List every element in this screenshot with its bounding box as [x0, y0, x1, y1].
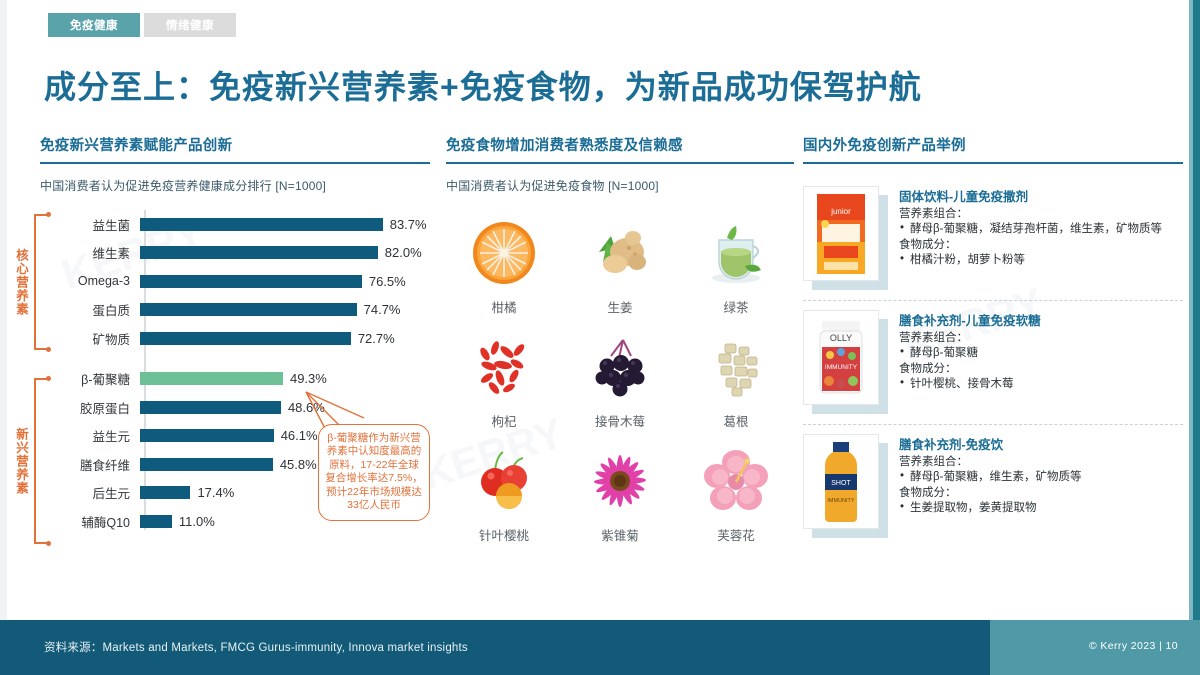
footer-source: 资料来源：Markets and Markets, FMCG Gurus-imm…: [44, 639, 468, 655]
product-food-bullet: 针叶樱桃、接骨木莓: [899, 377, 1183, 392]
olly-gummy-jar-icon: OLLY IMMUNITY: [810, 317, 872, 399]
goji-berry-icon: [467, 330, 541, 404]
food-label: 葛根: [723, 411, 748, 430]
food-item: 枸杞: [446, 330, 562, 430]
acerola-cherry-icon: [467, 444, 541, 518]
bar-label: 益生元: [40, 426, 140, 445]
bar-label: β-葡聚糖: [40, 369, 140, 388]
bar-value: 45.8%: [280, 457, 317, 472]
food-item: 接骨木莓: [562, 330, 678, 430]
section-nutrients-rule: [40, 162, 430, 164]
footer-copyright: © Kerry 2023 | 10: [1089, 640, 1178, 652]
bar-value: 83.7%: [390, 217, 427, 232]
section-foods-rule: [446, 162, 794, 164]
section-foods: 免疫食物增加消费者熟悉度及信赖感 中国消费者认为促进免疫食物 [N=1000]: [446, 134, 794, 544]
bar-fill: [140, 458, 273, 471]
orange-slice-icon: [467, 216, 541, 290]
product-title: 膳食补充剂-儿童免疫软糖: [899, 310, 1183, 329]
tab-emotional-health-label: 情绪健康: [166, 17, 214, 33]
left-accent-bar: [0, 0, 7, 620]
food-label: 柑橘: [491, 297, 516, 316]
food-label: 芙蓉花: [717, 525, 755, 544]
bar-label: 维生素: [40, 243, 140, 262]
footer-bar: 资料来源：Markets and Markets, FMCG Gurus-imm…: [0, 620, 1200, 675]
bar-value: 74.7%: [364, 302, 401, 317]
bar-fill: [140, 332, 351, 345]
product-food-label: 食物成分：: [899, 362, 1183, 377]
bar-fill: [140, 246, 378, 259]
bar-fill: [140, 218, 383, 231]
green-tea-cup-icon: [699, 216, 773, 290]
bar-label: 后生元: [40, 483, 140, 502]
bar-row: 矿物质 72.7%: [40, 324, 430, 353]
product-card: OLLY IMMUNITY 膳食补充剂-儿童免疫软糖 营养素组合： 酵母β-葡: [803, 301, 1183, 425]
svg-text:junior: junior: [830, 207, 851, 216]
product-nutrient-label: 营养素组合：: [899, 207, 1183, 222]
bracket-emerging-nutrients: 新兴营养素: [10, 378, 44, 544]
section-products: 国内外免疫创新产品举例 junior: [803, 134, 1183, 548]
section-foods-subtitle: 中国消费者认为促进免疫食物 [N=1000]: [446, 177, 794, 194]
right-accent-bar: [1193, 0, 1200, 620]
food-item: 绿茶: [678, 216, 794, 316]
bar-value: 17.4%: [197, 485, 234, 500]
section-foods-heading: 免疫食物增加消费者熟悉度及信赖感: [446, 134, 794, 162]
bar-fill: [140, 303, 357, 316]
section-products-heading: 国内外免疫创新产品举例: [803, 134, 1183, 162]
product-nutrient-bullet: 酵母β-葡聚糖，凝结芽孢杆菌，维生素，矿物质等: [899, 222, 1183, 237]
bracket-core-label: 核心营养素: [12, 248, 31, 316]
product-food-label: 食物成分：: [899, 486, 1183, 501]
bar-value: 82.0%: [385, 245, 422, 260]
product-title: 固体饮料-儿童免疫撒剂: [899, 186, 1183, 205]
svg-text:IMMUNITY: IMMUNITY: [827, 498, 855, 504]
bar-fill: [140, 401, 281, 414]
food-item: 生姜: [562, 216, 678, 316]
kids-sachet-box-icon: junior: [811, 192, 871, 276]
bar-fill: [140, 429, 274, 442]
bar-row: 维生素 82.0%: [40, 239, 430, 268]
food-item: 针叶樱桃: [446, 444, 562, 544]
food-grid: 柑橘 生姜: [446, 216, 794, 544]
bar-label: 益生菌: [40, 215, 140, 234]
section-nutrients-heading: 免疫新兴营养素赋能产品创新: [40, 134, 430, 162]
food-item: 紫锥菊: [562, 444, 678, 544]
food-label: 绿茶: [723, 297, 748, 316]
food-label: 紫锥菊: [601, 525, 639, 544]
product-title: 膳食补充剂-免疫饮: [899, 434, 1183, 453]
food-label: 枸杞: [491, 411, 516, 430]
product-nutrient-label: 营养素组合：: [899, 455, 1183, 470]
svg-text:IMMUNITY: IMMUNITY: [825, 364, 858, 371]
product-image: SHOT IMMUNITY: [803, 434, 889, 538]
product-card: SHOT IMMUNITY 膳食补充剂-免疫饮 营养素组合： 酵母β-葡聚糖，维…: [803, 425, 1183, 548]
food-label: 生姜: [607, 297, 632, 316]
bar-value: 11.0%: [179, 514, 215, 529]
product-card: junior 固体饮料-儿童免疫撒剂 营养素组合： 酵母β-葡聚糖，凝结芽孢杆菌…: [803, 177, 1183, 301]
section-nutrients-subtitle: 中国消费者认为促进免疫营养健康成分排行 [N=1000]: [40, 177, 430, 194]
kudzu-root-icon: [699, 330, 773, 404]
bar-label: 膳食纤维: [40, 455, 140, 474]
bracket-emerging-label: 新兴营养素: [12, 427, 31, 495]
tab-emotional-health[interactable]: 情绪健康: [144, 13, 236, 37]
bar-fill: [140, 515, 172, 528]
tab-bar: 免疫健康 情绪健康: [48, 13, 236, 37]
bar-row: Omega-3 76.5%: [40, 267, 430, 296]
ginger-root-icon: [583, 216, 657, 290]
echinacea-flower-icon: [583, 444, 657, 518]
tab-immune-health[interactable]: 免疫健康: [48, 13, 140, 37]
product-nutrient-label: 营养素组合：: [899, 331, 1183, 346]
immunity-shot-bottle-icon: SHOT IMMUNITY: [815, 440, 867, 524]
bar-value: 76.5%: [369, 274, 406, 289]
product-food-bullet: 生姜提取物，姜黄提取物: [899, 501, 1183, 516]
food-item: 葛根: [678, 330, 794, 430]
svg-text:OLLY: OLLY: [830, 333, 852, 343]
elderberry-icon: [583, 330, 657, 404]
page-title: 成分至上：免疫新兴营养素+免疫食物，为新品成功保驾护航: [44, 62, 922, 108]
food-item: 柑橘: [446, 216, 562, 316]
product-image: OLLY IMMUNITY: [803, 310, 889, 414]
callout-beta-glucan: β-葡聚糖作为新兴营养素中认知度最高的原料，17-22年全球复合增长率达7.5%…: [318, 424, 430, 521]
bracket-core-nutrients: 核心营养素: [10, 214, 44, 350]
bar-label: 胶原蛋白: [40, 398, 140, 417]
bar-value: 49.3%: [290, 371, 327, 386]
bar-label: 蛋白质: [40, 300, 140, 319]
bar-label: Omega-3: [40, 274, 140, 288]
bar-label: 辅酶Q10: [40, 512, 140, 531]
product-image: junior: [803, 186, 889, 290]
bar-row: 益生菌 83.7%: [40, 210, 430, 239]
svg-text:SHOT: SHOT: [831, 480, 851, 487]
section-products-rule: [803, 162, 1183, 164]
slide: KERRY KERRY KERRY 免疫健康 情绪健康 成分至上：免疫新兴营养素…: [0, 0, 1200, 675]
food-label: 针叶樱桃: [479, 525, 529, 544]
tab-immune-health-label: 免疫健康: [70, 17, 118, 33]
product-nutrient-bullet: 酵母β-葡聚糖: [899, 346, 1183, 361]
product-food-bullet: 柑橘汁粉，胡萝卜粉等: [899, 253, 1183, 268]
product-food-label: 食物成分：: [899, 238, 1183, 253]
bar-fill: [140, 275, 362, 288]
hibiscus-flower-icon: [699, 444, 773, 518]
food-item: 芙蓉花: [678, 444, 794, 544]
bar-label: 矿物质: [40, 329, 140, 348]
food-label: 接骨木莓: [595, 411, 645, 430]
bar-fill: [140, 486, 190, 499]
bar-row: 蛋白质 74.7%: [40, 296, 430, 325]
bar-value: 72.7%: [358, 331, 395, 346]
bar-fill-highlight: [140, 372, 283, 385]
product-nutrient-bullet: 酵母β-葡聚糖，维生素，矿物质等: [899, 470, 1183, 485]
